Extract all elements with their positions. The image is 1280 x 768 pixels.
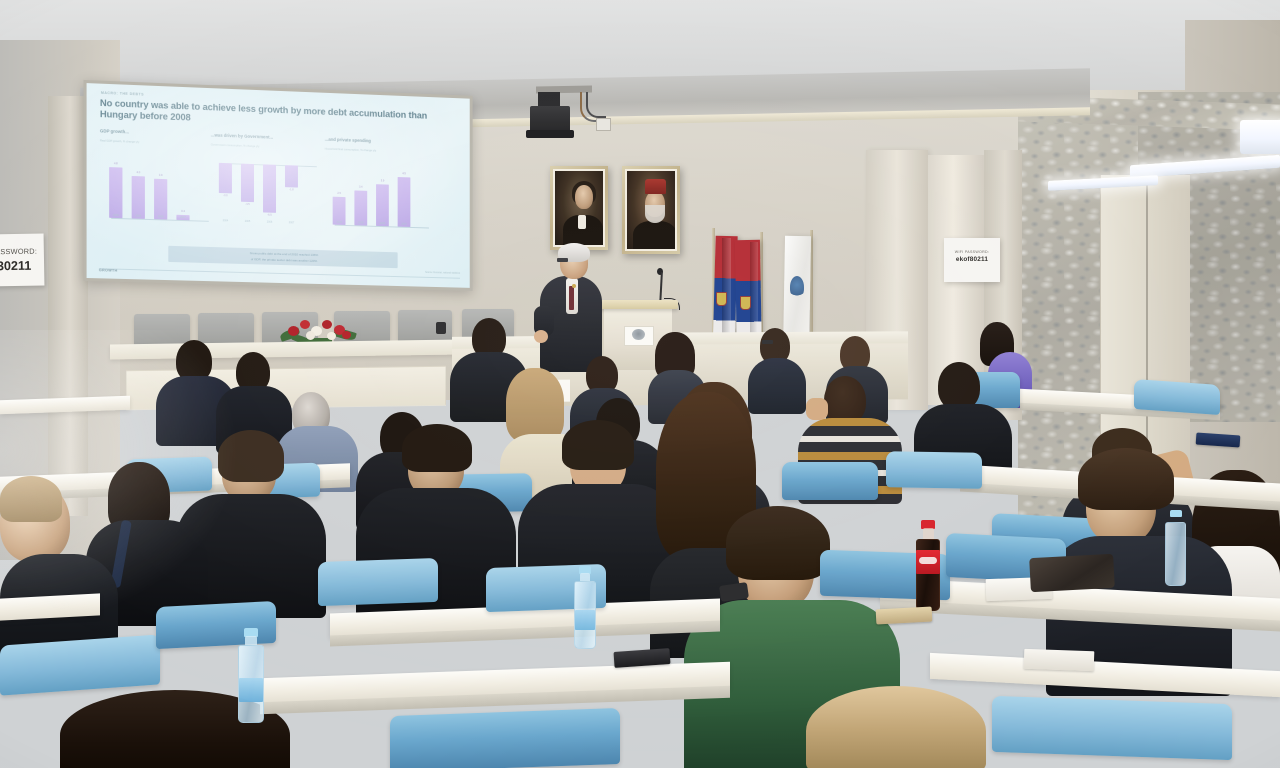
chart-3-bar-0: 2.5 2004 [333,197,346,225]
audience-c3-hair [402,424,472,472]
speaker-lapel-pin [572,284,576,288]
chart-3-bar-3: 4.5 2007 [398,177,411,227]
chart-1-subtitle: Real GDP growth, % change y/y [100,139,194,145]
chair-row3-1 [318,558,438,606]
chart-1-cat-0: 2004 [107,214,125,218]
projection-screen: MACRO: THE DEBTS No country was able to … [83,80,472,291]
institution-flag-emblem [790,276,804,298]
portrait-elder-with-fez [622,166,680,254]
chart-2-bar-3: -1.8 2007 [285,165,298,187]
notebook-2 [1024,649,1095,671]
water-bottle-aqua-viva-2 [236,628,266,724]
handbag-chain [1036,560,1108,568]
chart-2-bars: -3.0 2004 -4.5 2005 -6.5 2006 [215,163,307,232]
chart-3-cat-1: 2005 [352,221,370,225]
chart-2: -3.0 2004 -4.5 2005 -6.5 2006 [207,162,311,247]
chart-2-bar-2: -6.5 2006 [263,164,276,212]
chart-3-value-1: 3.4 [352,185,370,189]
chart-2-bar-0: -3.0 2004 [219,163,232,194]
audience-c8-hair [1078,448,1174,510]
chart-1-bar-0: 4.8 2004 [109,167,122,218]
chart-2-value-1: -4.5 [238,203,256,207]
audience-c1-hair [218,430,284,482]
chart-1-bar-1: 4.0 2005 [132,176,145,219]
chart-1-bars: 4.8 2004 4.0 2005 3.9 2006 [105,159,199,229]
audience-b7-head [938,362,980,410]
chair-row2-5 [886,451,982,489]
chair-row4-2 [390,708,620,768]
wifi-password-sign-left: PASSWORD: 30211 [0,233,44,286]
chart-2-cat-1: 2005 [238,220,256,224]
flag-crest-2 [740,296,751,310]
chart-1-value-1: 4.0 [129,171,147,175]
chart-2-subtitle: Government consumption, % change y/y [211,143,307,149]
chart-2-cat-2: 2006 [261,220,279,224]
audience-c4-hair [562,420,634,470]
chart-3-value-2: 3.9 [374,179,392,183]
water-bottle-aqua-viva [572,566,598,650]
audience-c7-hair [0,476,62,522]
ceiling-junction-box [596,118,611,131]
chart-3-cat-0: 2004 [330,221,348,225]
audience-c6-hair [726,506,830,580]
slide-title: No country was able to achieve less grow… [100,98,430,134]
presentation-slide: MACRO: THE DEBTS No country was able to … [87,83,470,288]
flag-crest-1 [716,292,727,306]
wifi-sign-right-label: WIFI PASSWORD: [944,250,1000,254]
slide-eyebrow: MACRO: THE DEBTS [101,91,144,97]
wifi-password-sign-right: WIFI PASSWORD: ekof80211 [944,238,1000,282]
chart-1: 4.8 2004 4.0 2005 3.9 2006 [97,159,203,245]
chart-3-bars: 2.5 2004 3.4 2005 3.9 2006 [329,167,419,235]
chart-1-value-3: 0.4 [174,210,192,214]
slide-source: Source: Eurostat, national statistics [425,272,460,275]
podium-emblem-mark [632,329,645,340]
lecture-hall-photo: MACRO: THE DEBTS No country was able to … [0,0,1280,768]
audience-b3-hair-blonde [506,368,564,442]
audience-a1-glasses-icon [762,340,773,344]
slide-logo: GROWTH [99,268,118,273]
portrait-young-man [550,166,608,250]
chart-1-cat-1: 2005 [129,214,147,218]
projector-base [526,130,574,138]
table-microphone-icon [436,322,446,334]
chart-3-cat-3: 2007 [395,223,413,227]
chart-3-subtitle: Household final consumption, % change y/… [325,148,416,154]
podium-top [594,300,678,309]
chart-1-cat-2: 2006 [152,215,170,219]
slide-footer-rule [99,268,460,278]
chart-1-value-0: 4.8 [107,162,125,166]
chart-3-cat-2: 2006 [374,222,392,226]
chart-1-heading: GDP growth... [100,128,129,134]
audience-front-blonde-head [806,686,986,768]
chart-2-value-0: -3.0 [216,194,234,198]
chart-2-cat-3: 2007 [282,221,300,225]
chart-1-cat-3: 2007 [174,216,192,220]
chart-2-value-2: -6.5 [261,213,279,217]
water-bottle-right [1164,510,1188,588]
wall-column-left [48,96,88,516]
strip-light-3 [1240,120,1280,154]
chart-2-cat-0: 2004 [216,219,234,223]
chart-3-value-3: 4.5 [395,172,413,176]
chart-2-bar-1: -4.5 2005 [241,164,254,203]
chair-far-right-1 [1134,379,1220,415]
chart-2-heading: ...was driven by Government... [211,132,273,139]
wifi-sign-right-value: ekof80211 [944,256,1000,263]
chair-row2-4 [782,462,878,500]
audience-a1-torso [748,358,806,414]
audience-b6-hand [806,398,828,420]
chart-1-value-2: 3.9 [152,174,170,178]
chair-row4-1 [0,634,160,695]
chart-1-bar-2: 3.9 2006 [154,179,167,220]
speaker-glasses-icon [557,258,568,262]
cola-bottle [914,520,942,612]
chart-3-bar-2: 3.9 2006 [376,184,389,226]
projector-cable-2 [586,92,606,118]
speaker-tie [569,286,574,310]
ceiling-projector-icon [530,106,570,132]
wifi-sign-left-value: 30211 [0,258,44,273]
chart-3: 2.5 2004 3.4 2005 3.9 2006 [321,166,423,251]
chart-3-value-0: 2.5 [330,192,348,196]
wifi-sign-left-label: PASSWORD: [0,246,44,256]
chart-2-value-3: -1.8 [282,188,300,192]
chart-3-bar-1: 3.4 2005 [354,190,367,225]
smartphone-gold [876,607,933,625]
speaker-hand [534,330,548,343]
audience-b6-head [824,376,866,424]
chart-3-heading: ...and private spending [325,137,371,144]
chart-1-bar-3: 0.4 2007 [176,215,189,220]
chair-row4-3 [992,696,1232,760]
